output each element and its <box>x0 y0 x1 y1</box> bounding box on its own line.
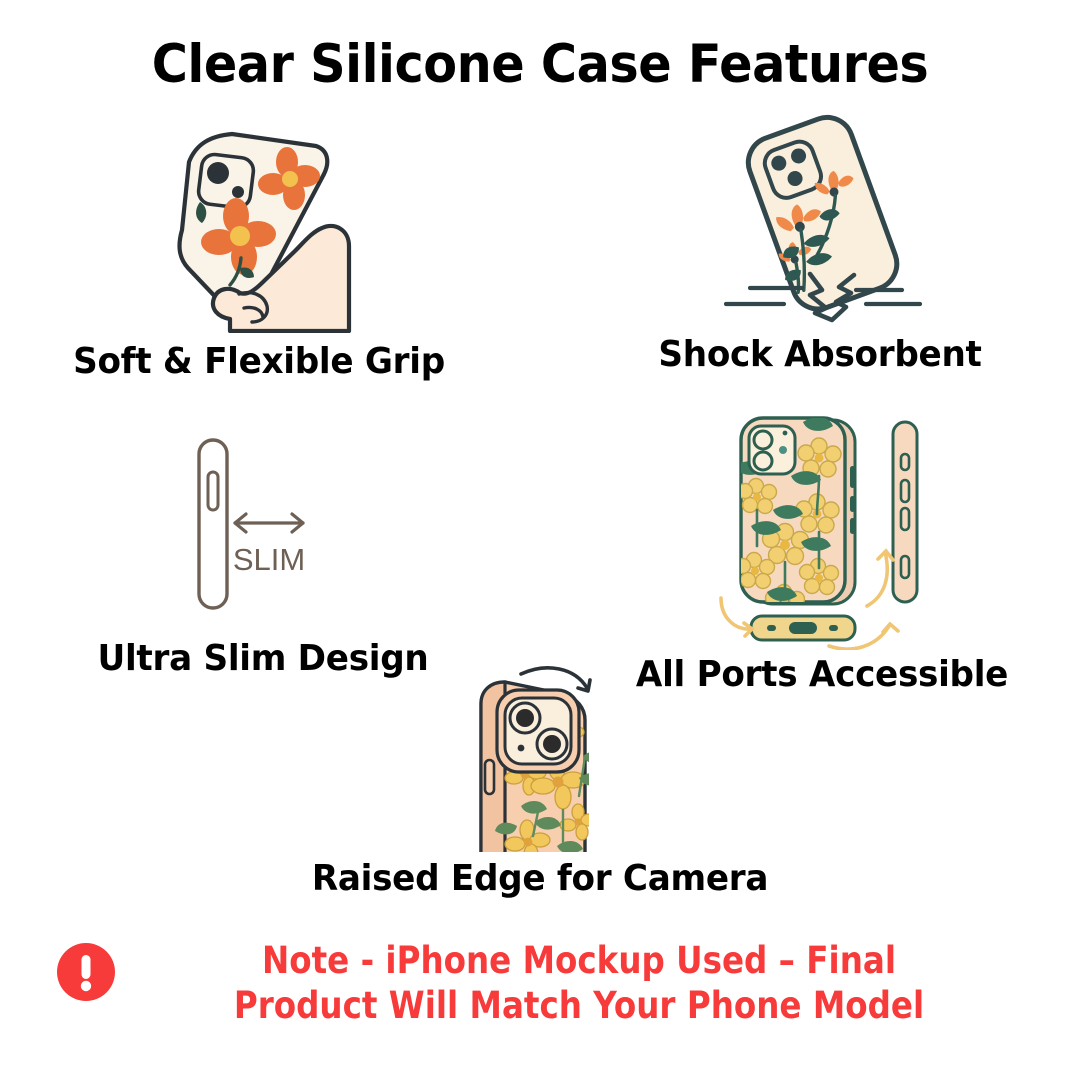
note-banner: Note - iPhone Mockup Used – Final Produc… <box>0 938 1080 1028</box>
exclamation-circle-icon <box>56 942 116 1007</box>
feature-caption: Shock Absorbent <box>624 334 1015 375</box>
feature-caption: Raised Edge for Camera <box>298 858 783 899</box>
side-button <box>208 472 218 510</box>
note-text: Note - iPhone Mockup Used – Final Produc… <box>187 938 970 1028</box>
illustration-phone-side-profile-with-width-arrow: SLIM <box>48 424 478 624</box>
bottom-edge-port-strip <box>751 616 855 640</box>
feature-ultra-slim-design: SLIM Ultra Slim Design <box>48 424 478 679</box>
side-button <box>485 760 494 794</box>
feature-all-ports-accessible: All Ports Accessible <box>616 410 1028 695</box>
camera-flash <box>518 745 525 752</box>
camera-lens-secondary <box>232 186 244 198</box>
camera-mic <box>783 431 788 436</box>
camera-lens-2 <box>754 452 772 470</box>
infographic-page: Clear Silicone Case Features <box>0 0 1080 1080</box>
side-port-cutouts <box>850 466 855 534</box>
camera-flash <box>779 446 787 454</box>
phone-side-profile <box>893 422 917 602</box>
illustration-phone-back-side-and-bottom-edge-with-arrows <box>616 410 1028 650</box>
illustration-phone-angled-with-camera-bump-arrow <box>285 660 795 852</box>
slim-label: SLIM <box>233 542 305 577</box>
feature-caption: Soft & Flexible Grip <box>55 341 464 382</box>
feature-raised-edge-for-camera: Raised Edge for Camera <box>285 660 795 899</box>
phone-side-profile <box>199 440 227 608</box>
camera-lens-main <box>207 162 229 184</box>
illustration-phone-dropping-with-impact-burst <box>614 112 1026 332</box>
page-title: Clear Silicone Case Features <box>38 34 1042 95</box>
camera-lens-1 <box>754 431 772 449</box>
illustration-hand-holding-flexing-phone-case <box>44 118 474 333</box>
camera-module <box>197 153 255 209</box>
feature-shock-absorbent: Shock Absorbent <box>614 112 1026 375</box>
feature-soft-flexible-grip: Soft & Flexible Grip <box>44 118 474 382</box>
width-arrow-icon <box>235 514 303 532</box>
